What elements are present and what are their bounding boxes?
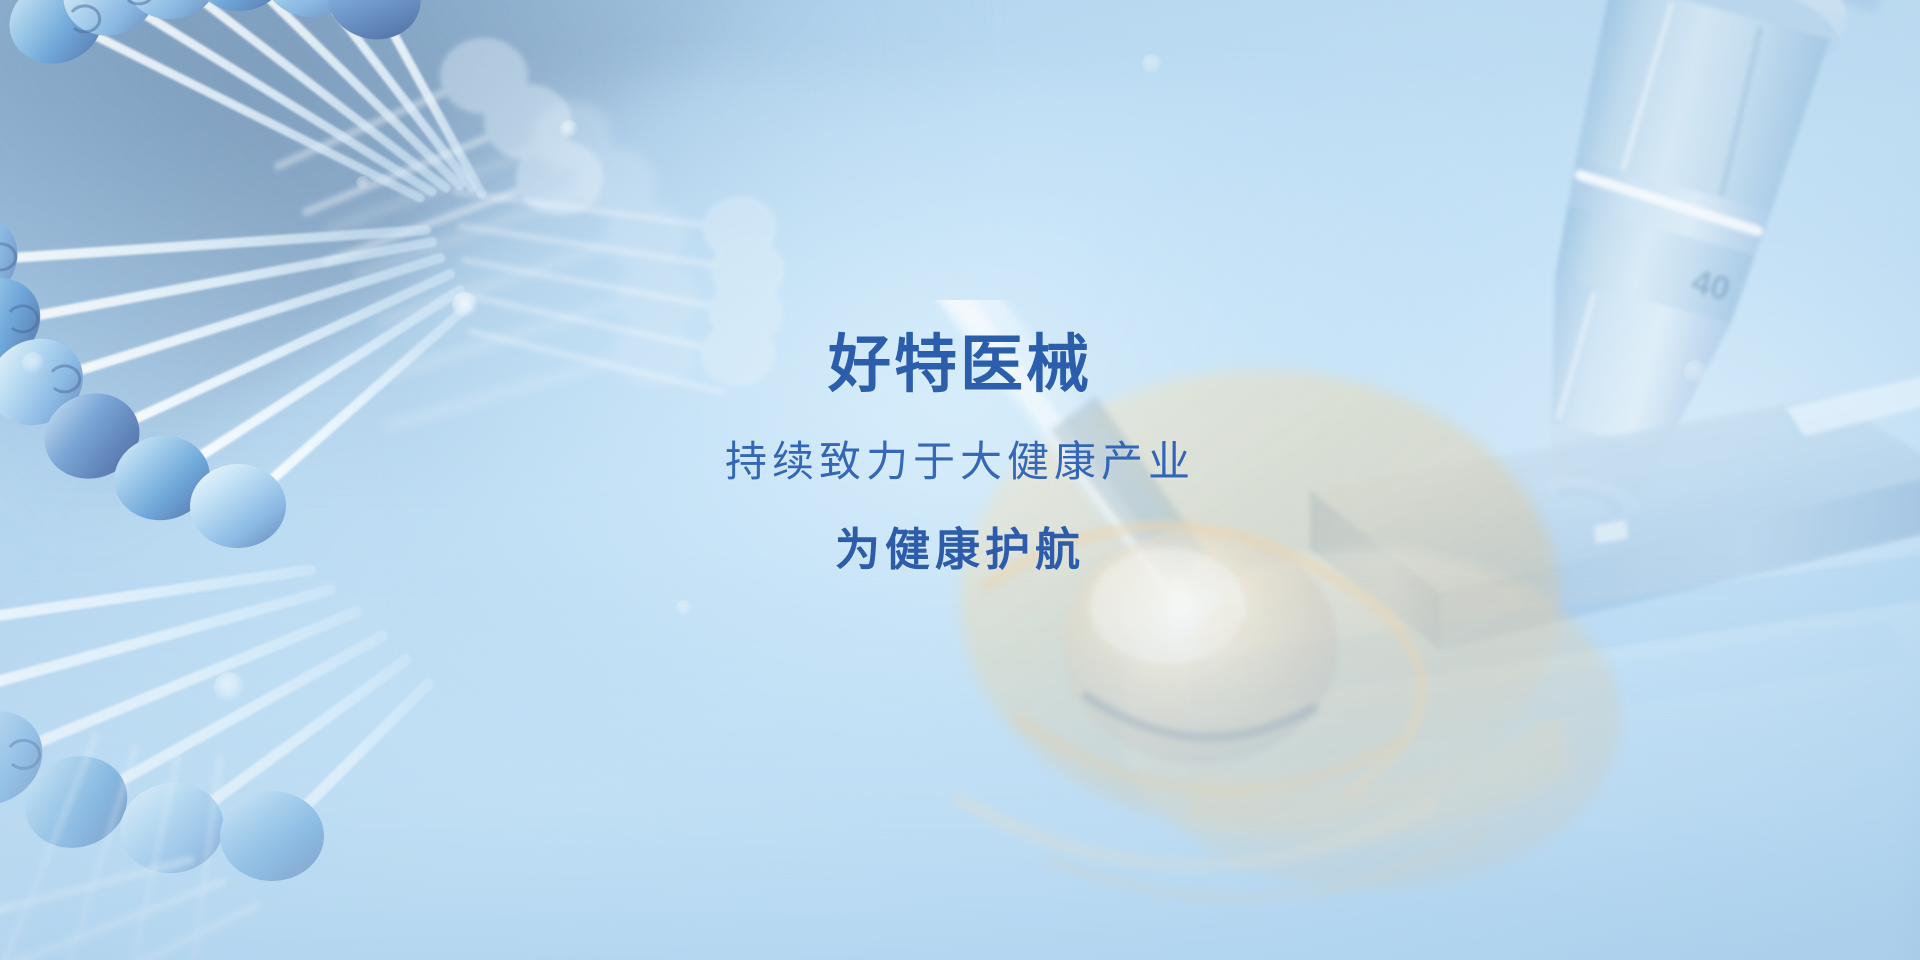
hero-banner: 40 [0,0,1920,960]
background-bottom-wash [0,576,1920,960]
